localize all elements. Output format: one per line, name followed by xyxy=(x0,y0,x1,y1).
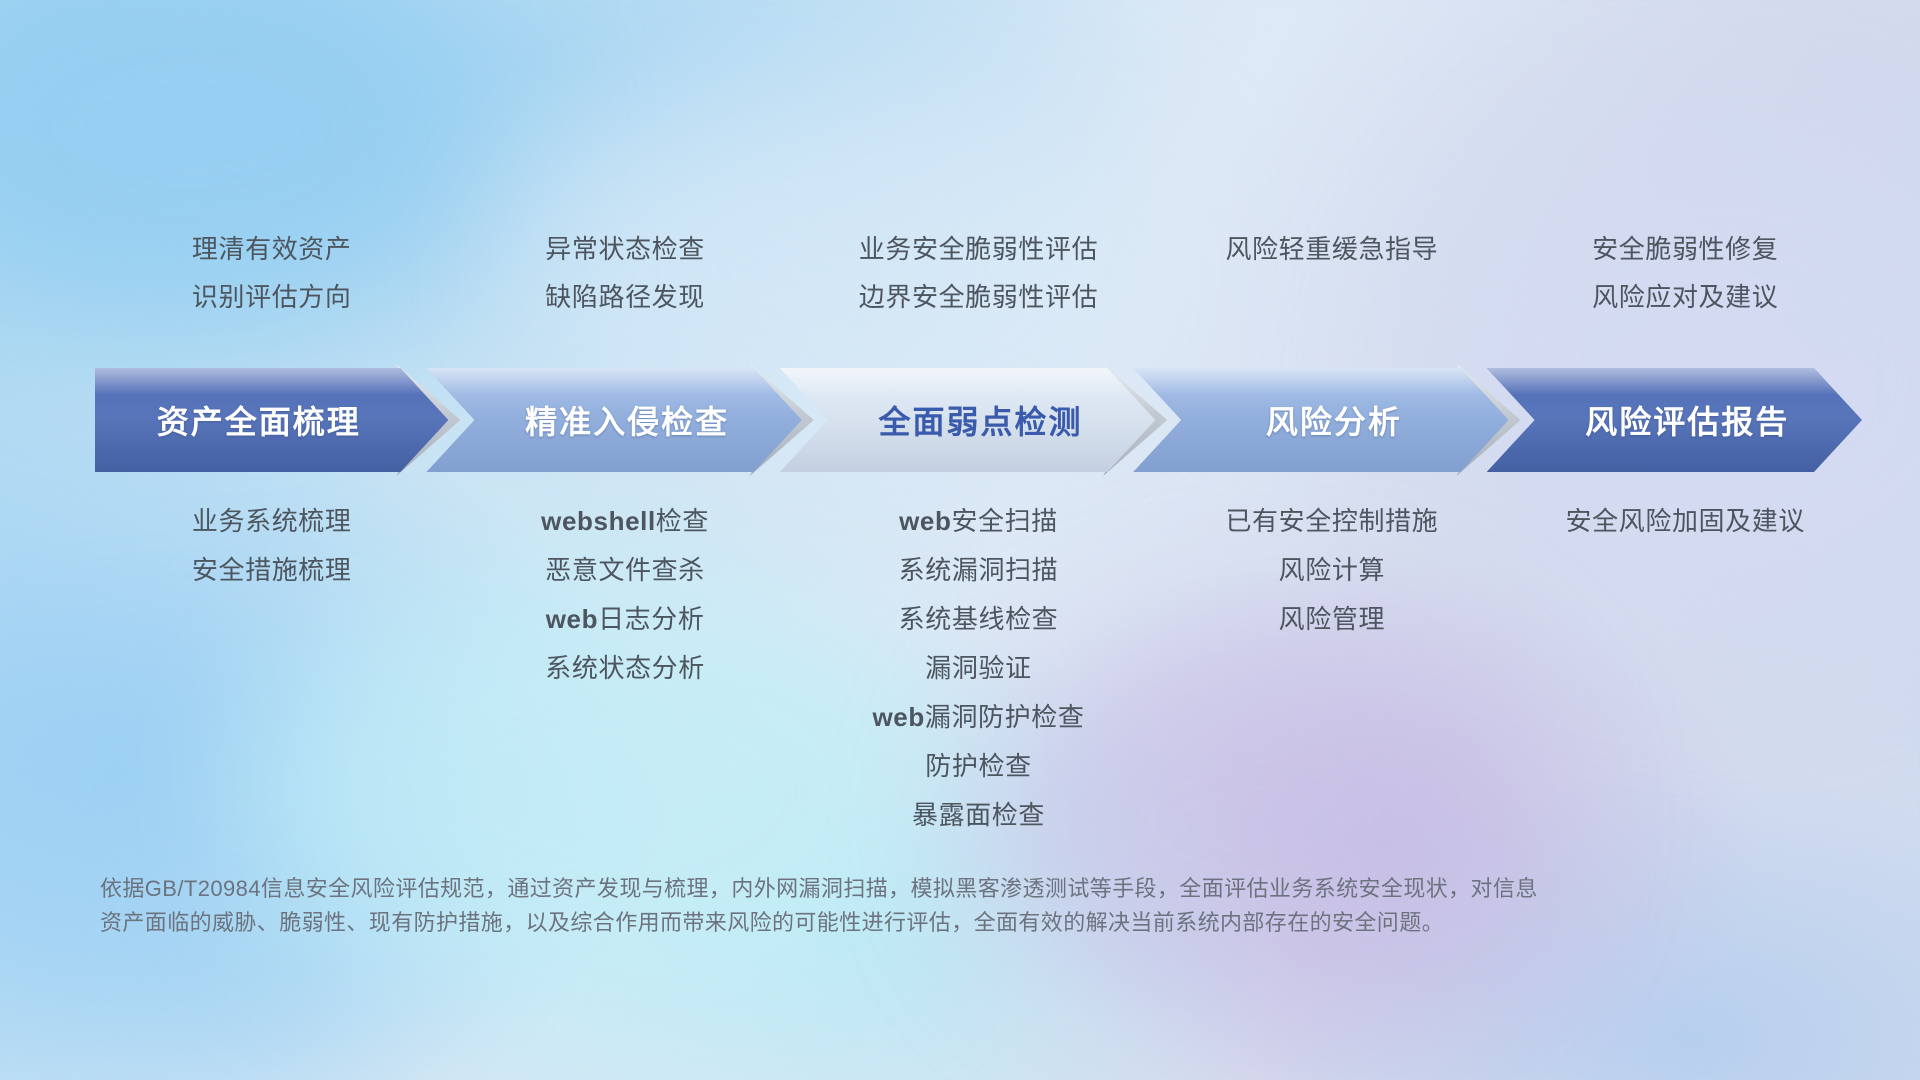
cjk-token: 安全扫描 xyxy=(951,506,1057,536)
chevron-step-label: 风险评估报告 xyxy=(1487,397,1862,443)
top-item: 风险应对及建议 xyxy=(1592,280,1778,314)
bottom-column-4: 已有安全控制措施风险计算风险管理 xyxy=(1155,505,1508,832)
chevron-step-5[interactable]: 风险评估报告 xyxy=(1487,368,1862,472)
cjk-token: 日志分析 xyxy=(598,604,704,634)
bottom-item: web漏洞防护检查 xyxy=(872,701,1084,734)
bottom-column-3: web安全扫描系统漏洞扫描系统基线检查漏洞验证web漏洞防护检查防护检查暴露面检… xyxy=(802,505,1155,832)
chevron-process-bar: 资产全面梳理精准入侵检查全面弱点检测风险分析风险评估报告 xyxy=(0,368,1920,472)
top-column-3: 业务安全脆弱性评估边界安全脆弱性评估 xyxy=(802,232,1155,352)
bottom-item: 系统基线检查 xyxy=(899,603,1059,636)
top-item: 理清有效资产 xyxy=(192,232,352,266)
top-item: 风险轻重缓急指导 xyxy=(1225,232,1438,266)
bottom-item: 已有安全控制措施 xyxy=(1225,505,1438,538)
top-item: 识别评估方向 xyxy=(192,280,352,314)
process-diagram: 理清有效资产识别评估方向异常状态检查缺陷路径发现业务安全脆弱性评估边界安全脆弱性… xyxy=(0,0,1920,1080)
top-item: 边界安全脆弱性评估 xyxy=(859,280,1098,314)
bottom-item: 风险管理 xyxy=(1279,603,1385,636)
bottom-item: webshell检查 xyxy=(541,505,709,538)
top-annotations-row: 理清有效资产识别评估方向异常状态检查缺陷路径发现业务安全脆弱性评估边界安全脆弱性… xyxy=(0,232,1920,352)
chevron-step-1[interactable]: 资产全面梳理 xyxy=(95,368,448,472)
bottom-item: 系统漏洞扫描 xyxy=(899,554,1059,587)
bottom-column-1: 业务系统梳理安全措施梳理 xyxy=(95,505,448,832)
top-item: 缺陷路径发现 xyxy=(545,280,705,314)
chevron-step-3[interactable]: 全面弱点检测 xyxy=(780,368,1155,472)
bottom-item: 暴露面检查 xyxy=(912,799,1045,832)
bottom-item: 风险计算 xyxy=(1279,554,1385,587)
chevron-step-4[interactable]: 风险分析 xyxy=(1133,368,1508,472)
bottom-item: web日志分析 xyxy=(546,603,705,636)
chevron-step-2[interactable]: 精准入侵检查 xyxy=(426,368,801,472)
footer-line-1: 依据GB/T20984信息安全风险评估规范，通过资产发现与梳理，内外网漏洞扫描，… xyxy=(100,872,1660,906)
bottom-item: 安全措施梳理 xyxy=(192,554,352,587)
bottom-item: 安全风险加固及建议 xyxy=(1566,505,1805,538)
top-column-2: 异常状态检查缺陷路径发现 xyxy=(448,232,801,352)
latin-token: web xyxy=(899,506,951,536)
bottom-item: 系统状态分析 xyxy=(545,652,705,685)
top-column-5: 安全脆弱性修复风险应对及建议 xyxy=(1509,232,1862,352)
bottom-column-2: webshell检查恶意文件查杀web日志分析系统状态分析 xyxy=(448,505,801,832)
top-item: 安全脆弱性修复 xyxy=(1592,232,1778,266)
bottom-item: 恶意文件查杀 xyxy=(545,554,705,587)
footer-description: 依据GB/T20984信息安全风险评估规范，通过资产发现与梳理，内外网漏洞扫描，… xyxy=(100,872,1660,940)
cjk-token: 漏洞防护检查 xyxy=(925,702,1085,732)
top-column-4: 风险轻重缓急指导 xyxy=(1155,232,1508,352)
chevron-step-label: 全面弱点检测 xyxy=(780,397,1155,443)
bottom-item: web安全扫描 xyxy=(899,505,1058,538)
chevron-step-label: 精准入侵检查 xyxy=(426,397,801,443)
top-item: 业务安全脆弱性评估 xyxy=(859,232,1098,266)
top-item: 异常状态检查 xyxy=(545,232,705,266)
cjk-token: 检查 xyxy=(656,506,709,536)
bottom-item: 业务系统梳理 xyxy=(192,505,352,538)
footer-line-2: 资产面临的威胁、脆弱性、现有防护措施，以及综合作用而带来风险的可能性进行评估，全… xyxy=(100,906,1660,940)
latin-token: web xyxy=(546,604,598,634)
latin-token: webshell xyxy=(541,506,656,536)
bottom-item: 漏洞验证 xyxy=(925,652,1031,685)
chevron-step-label: 资产全面梳理 xyxy=(95,397,448,443)
bottom-detail-row: 业务系统梳理安全措施梳理webshell检查恶意文件查杀web日志分析系统状态分… xyxy=(0,505,1920,832)
latin-token: web xyxy=(872,702,924,732)
top-column-1: 理清有效资产识别评估方向 xyxy=(95,232,448,352)
bottom-column-5: 安全风险加固及建议 xyxy=(1509,505,1862,832)
chevron-step-label: 风险分析 xyxy=(1133,397,1508,443)
bottom-item: 防护检查 xyxy=(925,750,1031,783)
